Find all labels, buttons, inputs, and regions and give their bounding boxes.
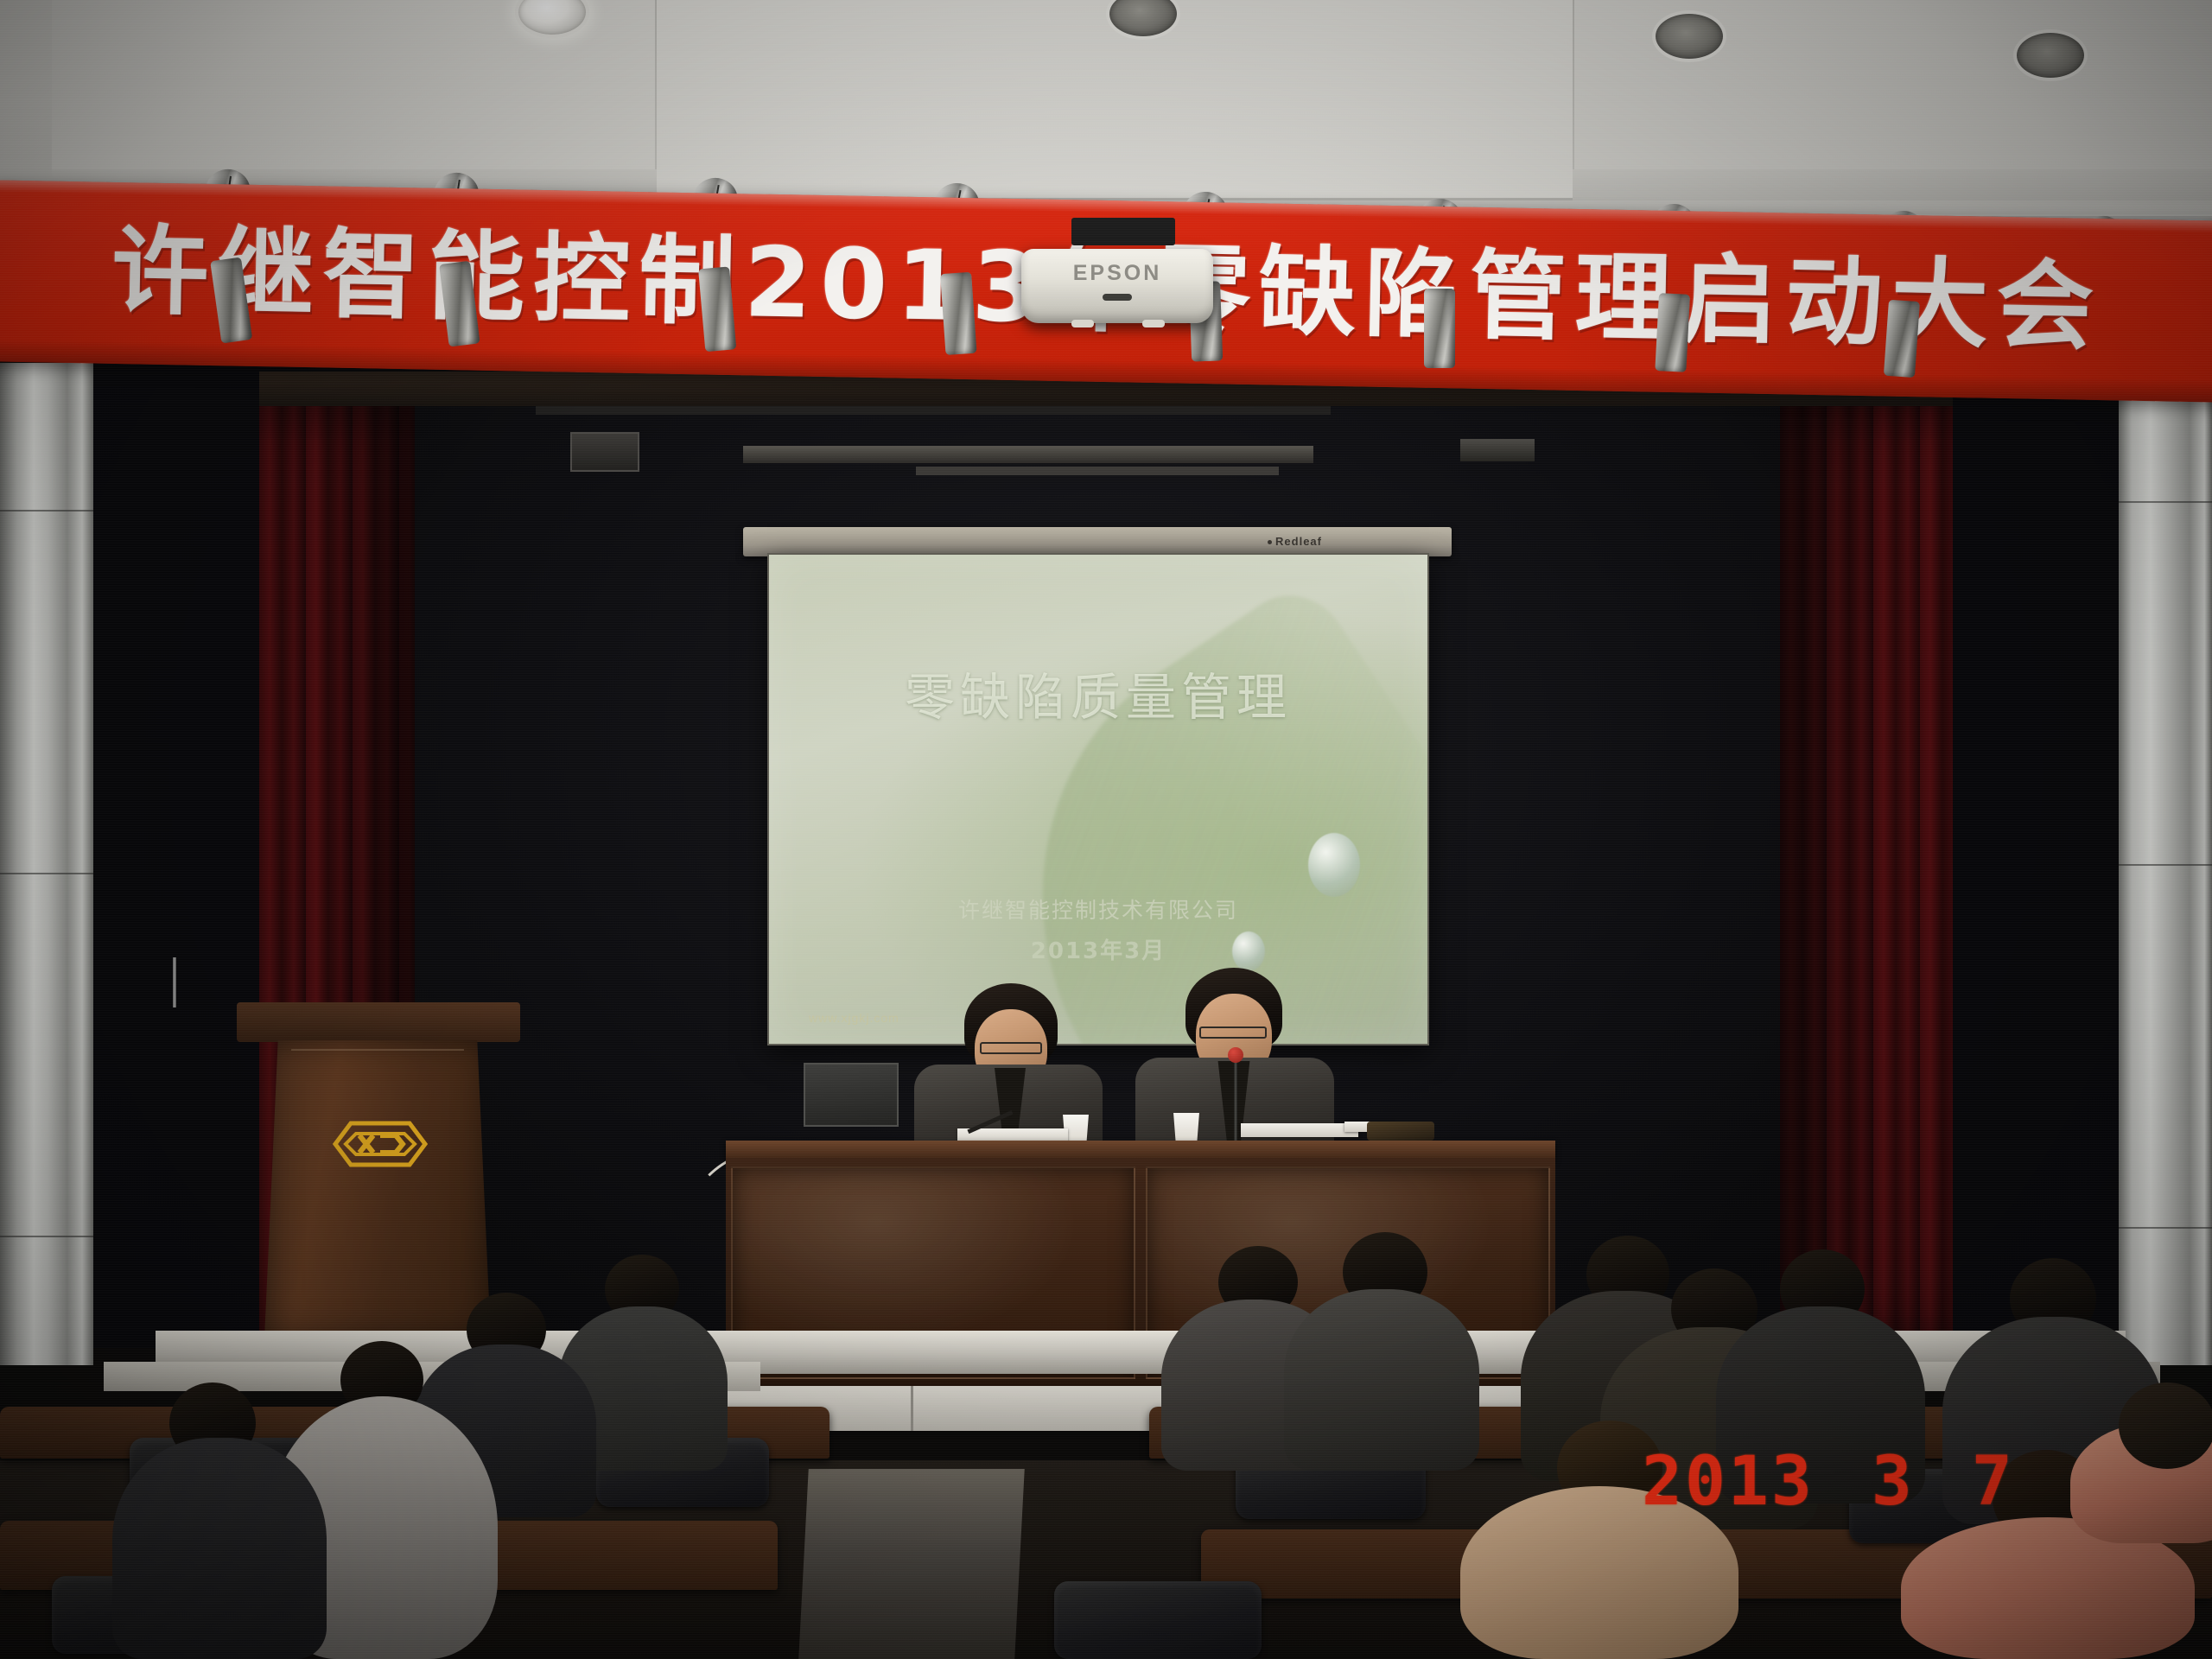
- podium-top-surface: [237, 1002, 520, 1042]
- slide-dewdrop-1: [1308, 833, 1360, 897]
- speaker-left-glasses: [980, 1042, 1042, 1054]
- projector-mount-front: [1071, 218, 1175, 245]
- stage-curtain-right: [1780, 406, 1953, 1339]
- projector-brand-label-front: EPSON: [1021, 261, 1213, 286]
- epson-projector-front: EPSON: [1021, 249, 1213, 323]
- head-table-top: [726, 1141, 1555, 1160]
- projection-screen-case: Redleaf: [743, 527, 1452, 556]
- center-aisle: [798, 1469, 1025, 1659]
- slide-background-leaf: [933, 574, 1429, 1046]
- spotlight-barrel-front-4: [933, 271, 983, 355]
- document-right: [1241, 1123, 1358, 1137]
- spotlight-barrel-front-7: [1648, 293, 1697, 373]
- desk-object-dark: [1367, 1122, 1434, 1141]
- projector-foot-right-front: [1142, 320, 1165, 327]
- stage-ceiling-rail-2: [916, 467, 1279, 475]
- projector-foot-left-front: [1071, 320, 1094, 327]
- stage-light-bar: [743, 446, 1313, 463]
- stage-air-vent: [570, 432, 639, 472]
- slide-watermark: www.xjgkj.com: [809, 1011, 899, 1025]
- slide-company-name: 许继智能控制技术有限公司: [769, 893, 1427, 925]
- speaker-podium: [249, 1002, 508, 1339]
- podium-front-panel: [282, 1049, 474, 1329]
- camera-date-stamp: 2013 3 7: [1642, 1443, 2015, 1521]
- seat-cushion-6[interactable]: [1054, 1581, 1262, 1659]
- slide-date: 2013年3月: [769, 933, 1427, 965]
- projection-screen: 零缺陷质量管理 许继智能控制技术有限公司 2013年3月 www.xjgkj.c…: [767, 553, 1429, 1046]
- stage-ceiling-vent-right: [1460, 439, 1535, 461]
- spotlight-barrel-front-6: [1417, 289, 1462, 368]
- projector-vent-slot-front: [1103, 294, 1132, 301]
- stage-ceiling-rail-1: [536, 406, 1331, 415]
- date-day: 7: [1972, 1443, 2015, 1521]
- hall-pillar-left: [0, 363, 93, 1365]
- screen-brand-label: Redleaf: [1275, 535, 1322, 548]
- ceiling-downlight-4: [2013, 29, 2088, 81]
- date-month: 3: [1872, 1443, 1915, 1521]
- ceiling-downlight-3: [1652, 10, 1726, 62]
- speaker-right-glasses: [1199, 1027, 1267, 1039]
- spotlight-barrel-front-8: [1877, 299, 1927, 378]
- laptop-computer: [804, 1063, 899, 1127]
- conference-photo: EPSON Redleaf 零缺陷质量管理 许继智能控制技术有限公司 2013年…: [0, 0, 2212, 1659]
- soffit-drop-right: [1573, 169, 2212, 200]
- hall-pillar-right: [2119, 363, 2212, 1365]
- microphone-head: [1228, 1047, 1243, 1063]
- xd-logo-icon: [332, 1120, 429, 1168]
- table-microphone: [1234, 1058, 1237, 1144]
- podium-microphone-stand: [173, 957, 176, 1007]
- slide-title: 零缺陷质量管理: [769, 657, 1427, 729]
- spotlight-barrel-front-3: [691, 266, 743, 353]
- date-year: 2013: [1642, 1443, 1815, 1521]
- screen-brand-dot: [1268, 540, 1272, 544]
